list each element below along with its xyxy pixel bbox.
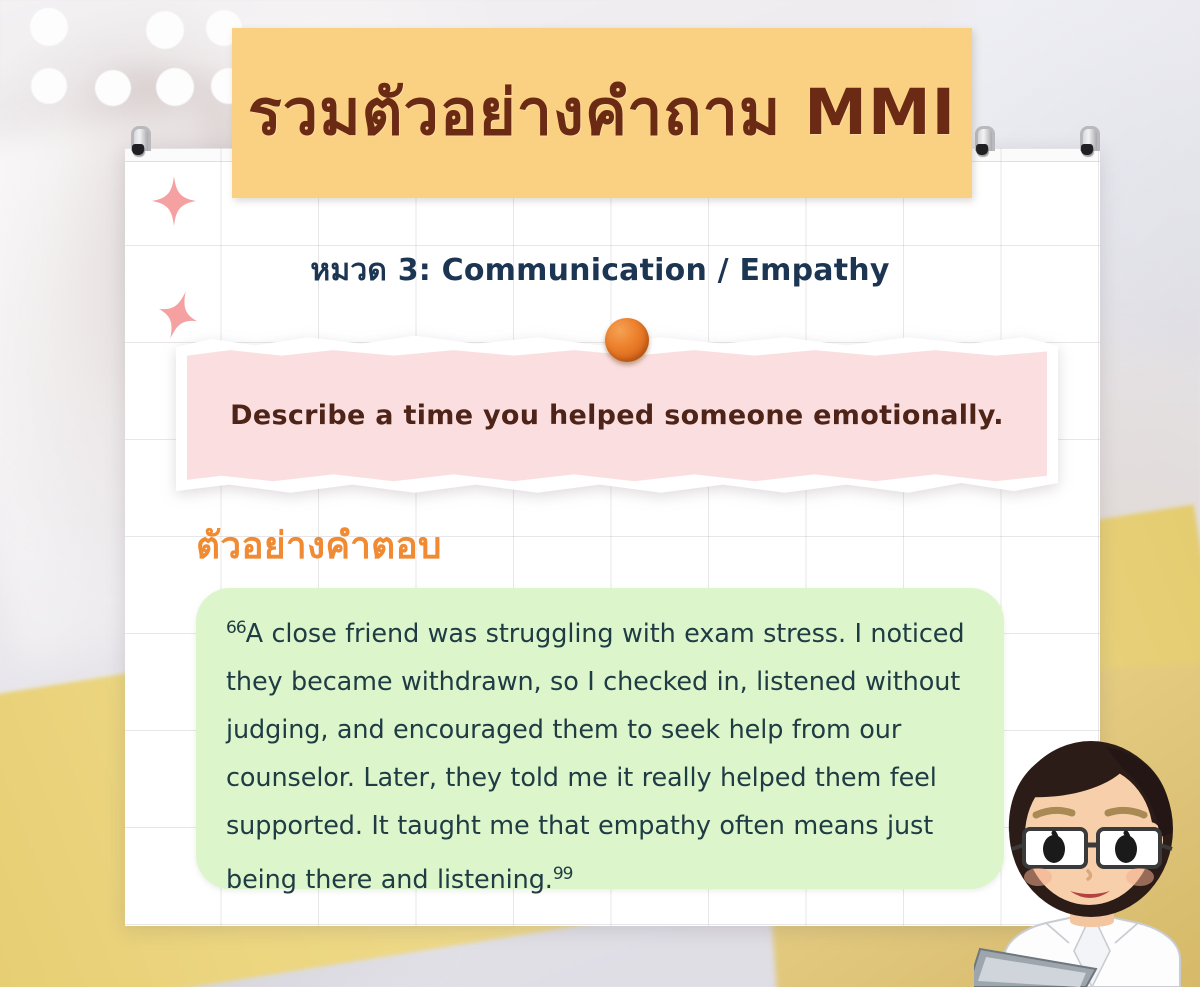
polka-dot bbox=[95, 70, 131, 106]
answer-body: A close friend was struggling with exam … bbox=[226, 619, 964, 895]
page-title: รวมตัวอย่างคำถาม MMI bbox=[248, 80, 956, 146]
polka-dot bbox=[156, 68, 194, 106]
answer-heading: ตัวอย่างคำตอบ bbox=[196, 516, 442, 575]
polka-dot bbox=[31, 8, 65, 42]
character-illustration bbox=[974, 737, 1200, 987]
quote-open-icon: 66 bbox=[226, 618, 246, 638]
answer-box: 66A close friend was struggling with exa… bbox=[196, 588, 1004, 889]
polka-dot bbox=[146, 11, 184, 49]
answer-text: 66A close friend was struggling with exa… bbox=[226, 604, 978, 904]
polka-dot bbox=[31, 68, 67, 104]
title-banner: รวมตัวอย่างคำถาม MMI bbox=[232, 28, 972, 198]
quote-close-icon: 99 bbox=[553, 864, 573, 884]
orange-pin-icon bbox=[605, 318, 649, 362]
slide-canvas: รวมตัวอย่างคำถาม MMI หมวด 3: Communicati… bbox=[0, 0, 1200, 987]
category-subtitle: หมวด 3: Communication / Empathy bbox=[0, 247, 1200, 294]
